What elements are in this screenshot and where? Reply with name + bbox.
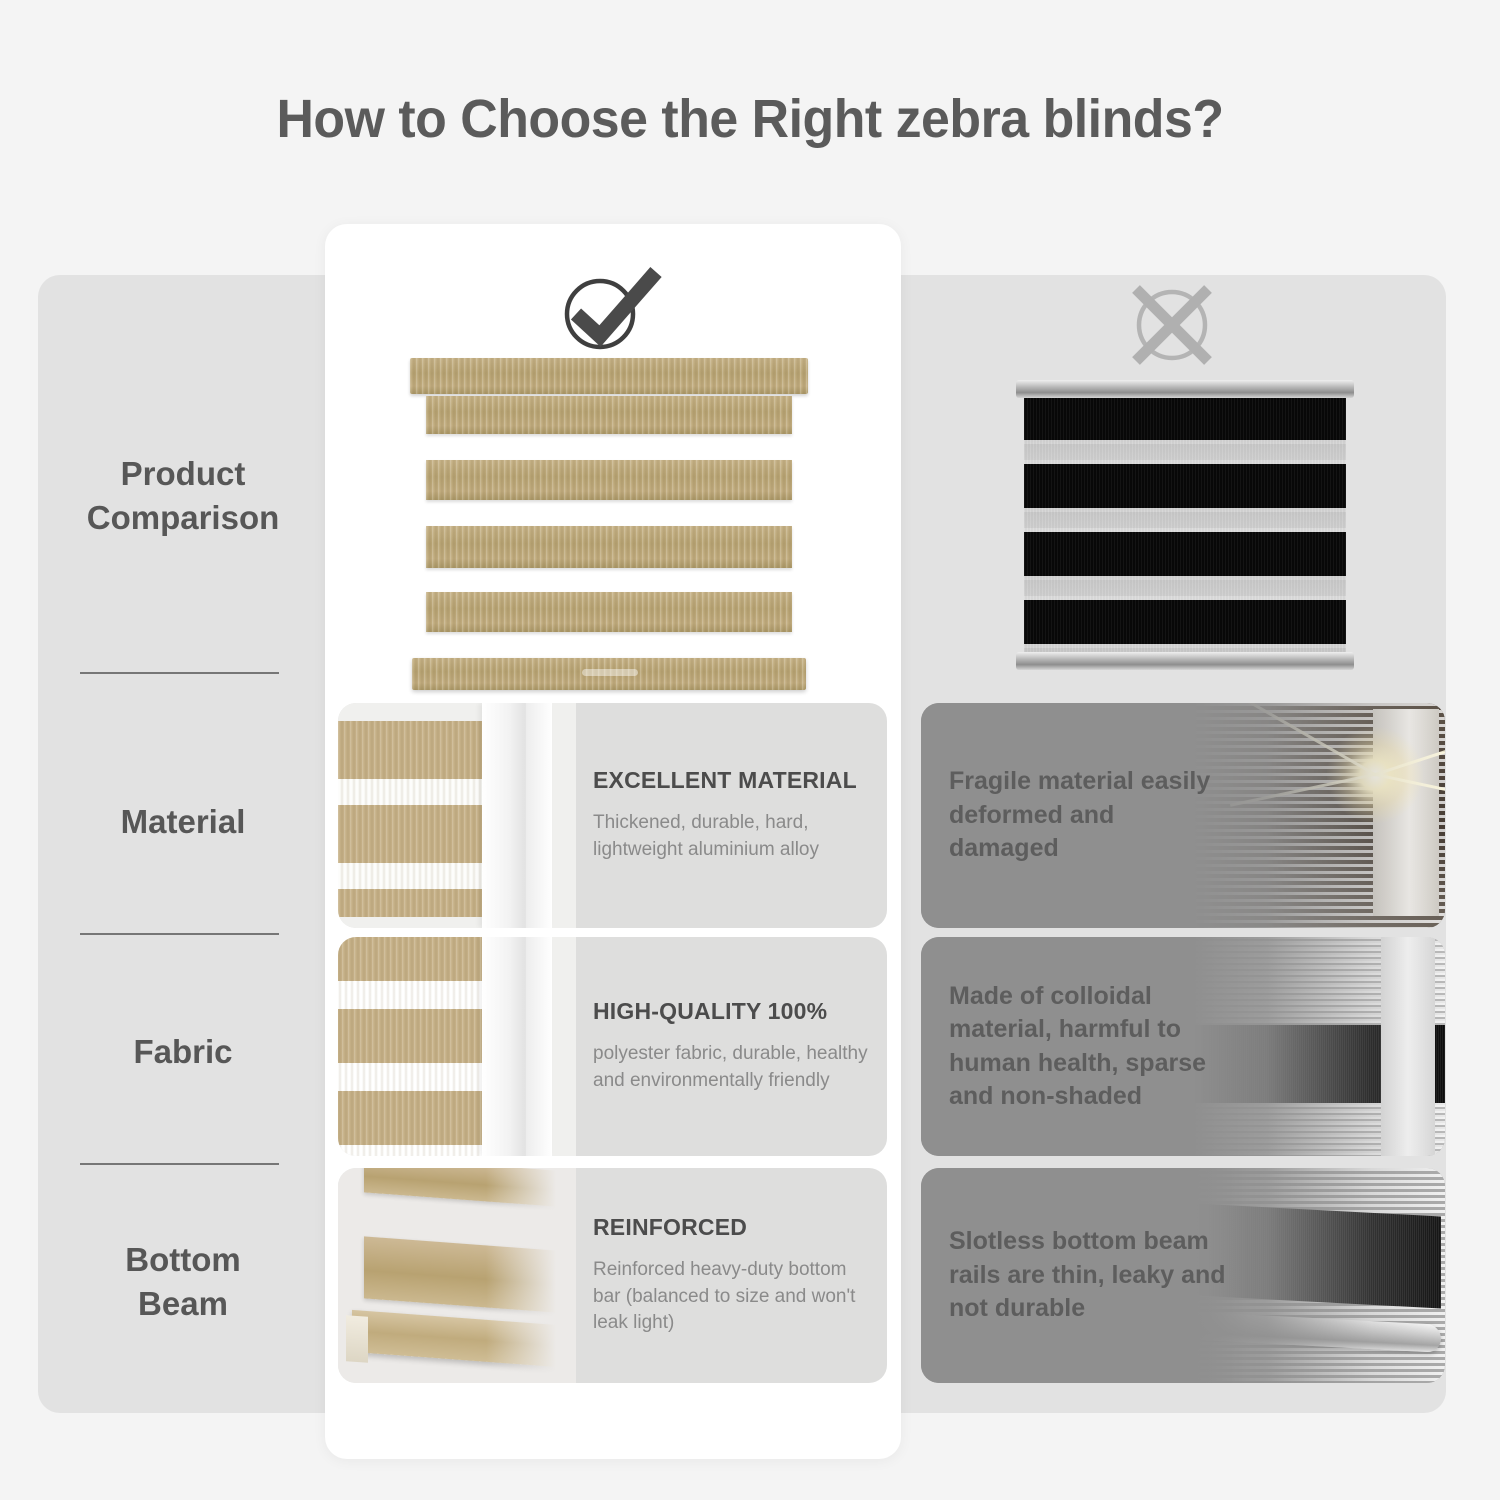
headrail: [410, 358, 808, 394]
blind-slat: [426, 592, 792, 632]
good-feature-card-bottom-beam: REINFORCED Reinforced heavy-duty bottom …: [338, 1168, 887, 1383]
row-label-fabric: Fabric: [58, 1030, 308, 1074]
feature-body: Thickened, durable, hard, lightweight al…: [593, 810, 877, 864]
blind-slat: [426, 526, 792, 568]
good-feature-card-fabric: HIGH-QUALITY 100% polyester fabric, dura…: [338, 937, 887, 1156]
good-product-hero-image: [410, 358, 808, 696]
bad-product-hero-image: [1016, 380, 1354, 670]
bottom-bar: [412, 658, 806, 690]
comparison-infographic: How to Choose the Right zebra blinds? Pr…: [0, 0, 1500, 1500]
feature-body: polyester fabric, durable, healthy and e…: [593, 1041, 877, 1095]
metal-headrail: [1016, 380, 1354, 398]
blind-slat: [426, 460, 792, 500]
feature-heading: HIGH-QUALITY 100%: [593, 998, 877, 1025]
blind-slat: [426, 396, 792, 434]
row-label-line: Product: [58, 452, 308, 496]
good-fabric-text: HIGH-QUALITY 100% polyester fabric, dura…: [593, 937, 877, 1156]
cross-circle-icon: [1124, 281, 1220, 365]
bad-feature-card-bottom-beam: Slotless bottom beam rails are thin, lea…: [921, 1168, 1445, 1383]
good-bottom-beam-photo: [338, 1168, 576, 1383]
good-bottom-beam-text: REINFORCED Reinforced heavy-duty bottom …: [593, 1168, 877, 1383]
feature-body: Reinforced heavy-duty bottom bar (balanc…: [593, 1257, 877, 1338]
row-divider: [80, 672, 279, 674]
feature-body: Fragile material easily deformed and dam…: [949, 765, 1229, 866]
feature-body: Made of colloidal material, harmful to h…: [949, 980, 1229, 1114]
window-frame: [482, 937, 552, 1156]
bad-bottom-beam-text: Slotless bottom beam rails are thin, lea…: [949, 1168, 1229, 1383]
good-fabric-photo: [338, 937, 576, 1156]
row-label-line: Beam: [58, 1282, 308, 1326]
feature-heading: EXCELLENT MATERIAL: [593, 767, 877, 794]
bad-feature-card-fabric: Made of colloidal material, harmful to h…: [921, 937, 1445, 1156]
row-divider: [80, 1163, 279, 1165]
window-frame: [482, 703, 552, 928]
bad-fabric-text: Made of colloidal material, harmful to h…: [949, 937, 1229, 1156]
bad-feature-card-material: Fragile material easily deformed and dam…: [921, 703, 1445, 928]
row-label-bottom-beam: Bottom Beam: [58, 1238, 308, 1325]
bad-material-text: Fragile material easily deformed and dam…: [949, 703, 1229, 928]
row-divider: [80, 933, 279, 935]
good-feature-card-material: EXCELLENT MATERIAL Thickened, durable, h…: [338, 703, 887, 928]
good-material-text: EXCELLENT MATERIAL Thickened, durable, h…: [593, 703, 877, 928]
beam-end-cap: [346, 1315, 368, 1363]
row-label-material: Material: [58, 800, 308, 844]
metal-bottom-rail: [1016, 652, 1354, 670]
feature-heading: REINFORCED: [593, 1214, 877, 1241]
row-label-line: Comparison: [58, 496, 308, 540]
striped-fabric: [1024, 398, 1346, 652]
good-material-photo: [338, 703, 576, 928]
page-title: How to Choose the Right zebra blinds?: [30, 88, 1470, 150]
check-circle-icon: [556, 266, 664, 352]
feature-body: Slotless bottom beam rails are thin, lea…: [949, 1225, 1229, 1326]
row-label-product-comparison: Product Comparison: [58, 452, 308, 539]
row-label-line: Bottom: [58, 1238, 308, 1282]
